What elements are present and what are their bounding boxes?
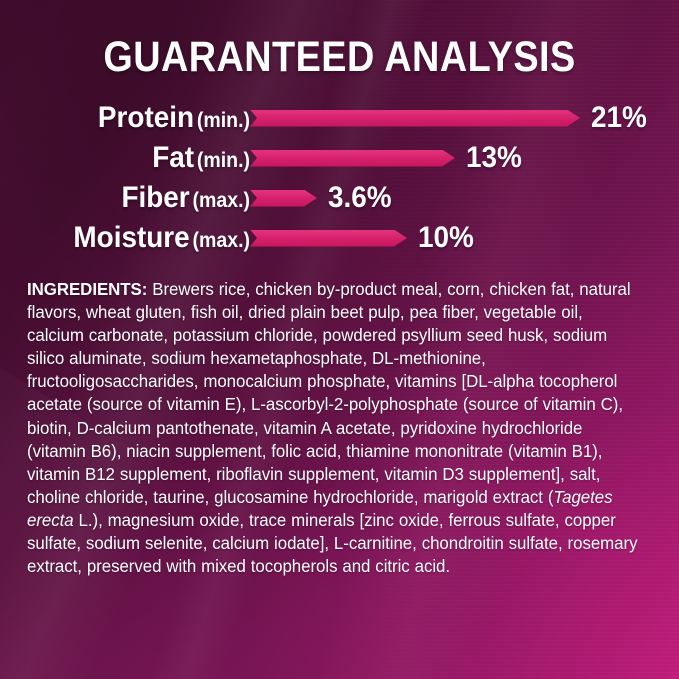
nutrient-qualifier: (min.)	[197, 109, 250, 132]
value-fat: 13%	[466, 143, 522, 173]
nutrient-name: Fat	[152, 141, 194, 174]
table-row: Fiber(max.) 3.6%	[0, 178, 661, 218]
table-row: Moisture(max.) 10%	[0, 218, 661, 258]
nutrient-label-fat: Fat(min.)	[18, 143, 251, 173]
ingredients-body-first: Brewers rice, chicken by-product meal, c…	[27, 279, 631, 507]
nutrient-qualifier: (max.)	[192, 189, 250, 212]
value-protein: 21%	[591, 103, 647, 133]
table-row: Fat(min.) 13%	[0, 138, 661, 178]
value-fiber: 3.6%	[328, 183, 392, 213]
bar-moisture	[250, 230, 407, 247]
nutrient-qualifier: (max.)	[192, 229, 250, 252]
nutrient-label-moisture: Moisture(max.)	[18, 223, 251, 253]
ingredients-body-second: L.), magnesium oxide, trace minerals [zi…	[27, 510, 637, 576]
nutrient-qualifier: (min.)	[197, 149, 250, 172]
page-title: GUARANTEED ANALYSIS	[41, 0, 639, 82]
bar-track-protein: 21%	[250, 98, 661, 138]
bar-track-moisture: 10%	[250, 218, 661, 258]
guaranteed-analysis-panel: GUARANTEED ANALYSIS Protein(min.) 21% Fa…	[0, 0, 679, 679]
ingredients-paragraph: INGREDIENTS: Brewers rice, chicken by-pr…	[27, 278, 638, 578]
bar-track-fat: 13%	[250, 138, 661, 178]
bar-track-fiber: 3.6%	[250, 178, 661, 218]
nutrient-label-fiber: Fiber(max.)	[18, 183, 251, 213]
nutrient-name: Moisture	[73, 221, 189, 254]
bar-fat	[250, 150, 455, 167]
bar-protein	[250, 110, 580, 127]
table-row: Protein(min.) 21%	[0, 98, 661, 138]
ingredients-heading: INGREDIENTS:	[27, 279, 147, 299]
bar-fiber	[250, 190, 317, 207]
nutrient-name: Fiber	[121, 181, 189, 214]
value-moisture: 10%	[418, 223, 474, 253]
nutrient-label-protein: Protein(min.)	[18, 103, 251, 133]
guaranteed-analysis-table: Protein(min.) 21% Fat(min.) 13%	[0, 98, 679, 258]
nutrient-name: Protein	[98, 101, 194, 134]
